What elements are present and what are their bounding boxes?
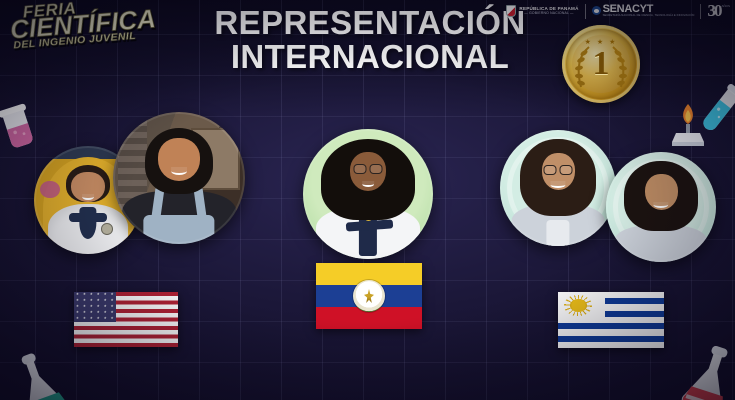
poster-canvas: FERIA CIENTÍFICA DEL INGENIO JUVENIL REP…	[0, 0, 735, 400]
panama-government-logo: REPÚBLICA DE PANAMÁ — GOBIERNO NACIONAL …	[506, 5, 578, 17]
flask-teal-icon	[6, 352, 76, 400]
uruguay-bar-3	[558, 323, 664, 329]
medal-laurel-left	[573, 45, 593, 89]
senacyt-subtitle: SECRETARÍA NACIONAL DE CIENCIA, TECNOLOG…	[603, 15, 695, 18]
panama-shield-icon	[506, 5, 516, 17]
flask-red-icon	[676, 346, 735, 400]
flag-colombia	[316, 263, 422, 329]
logo-divider-2	[700, 4, 701, 19]
flag-uruguay	[558, 292, 664, 348]
portrait-usa-student-2	[113, 112, 245, 244]
feria-cientifica-logo: FERIA CIENTÍFICA DEL INGENIO JUVENIL	[8, 0, 182, 57]
senacyt-mark-icon	[592, 6, 601, 15]
senacyt-logo: SENACYT SECRETARÍA NACIONAL DE CIENCIA, …	[592, 4, 695, 18]
uruguay-sun-of-may-icon	[564, 295, 592, 315]
gold-medal-icon: ★ ★ ★ 1	[562, 25, 640, 103]
anniversary-number: 30	[707, 3, 720, 18]
colombia-coat-of-arms-icon	[353, 280, 385, 312]
medal-laurel-right	[609, 45, 629, 89]
anniversary-caption: AÑOS	[721, 5, 730, 9]
portrait-uruguay-student-1	[500, 130, 616, 246]
portrait-colombia-student	[303, 129, 433, 259]
portrait-uruguay-student-2	[606, 152, 716, 262]
anniversary-30-icon: 30 AÑOS	[707, 3, 730, 18]
flag-usa: ★★★★★★ ★★★★★★ ★★★★★★ ★★★★★★ ★★★★★★	[74, 292, 178, 347]
medal-number: 1	[593, 47, 610, 81]
usa-canton: ★★★★★★ ★★★★★★ ★★★★★★ ★★★★★★ ★★★★★★	[74, 292, 116, 322]
institutional-logos: REPÚBLICA DE PANAMÁ — GOBIERNO NACIONAL …	[506, 1, 730, 21]
title-line-2: INTERNACIONAL	[175, 40, 565, 74]
logo-divider-1	[585, 4, 586, 19]
panama-label-2: — GOBIERNO NACIONAL —	[519, 12, 578, 16]
uruguay-bar-4	[558, 336, 664, 342]
test-tube-blue-icon	[692, 82, 735, 142]
